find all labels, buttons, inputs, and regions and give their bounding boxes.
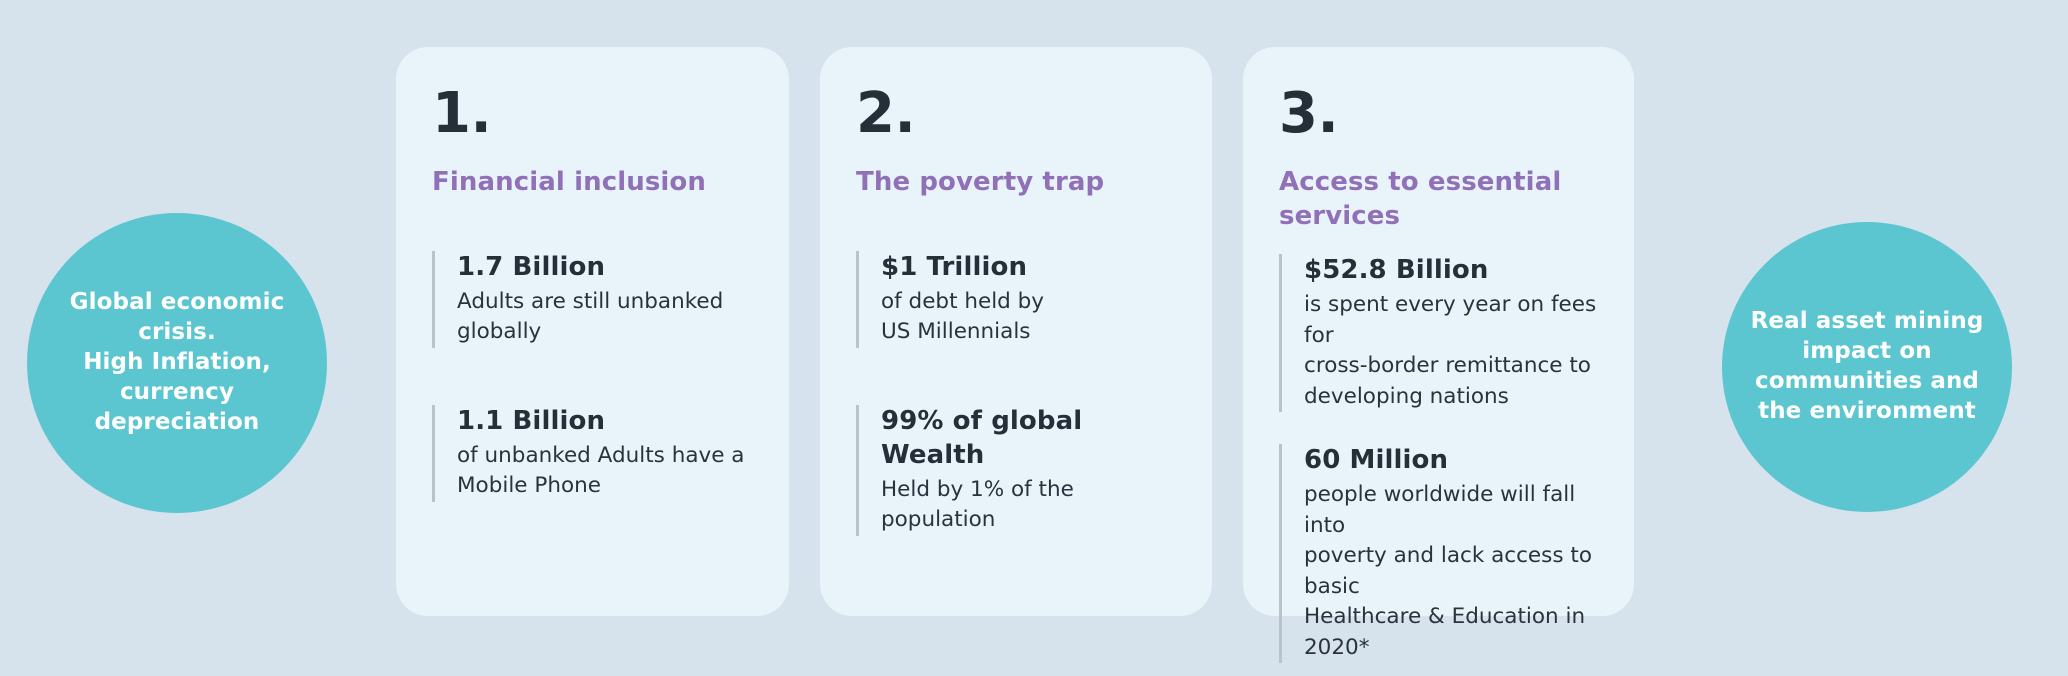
stat-value: 60 Million [1304, 444, 1598, 478]
card-number: 3. [1279, 85, 1598, 144]
stat-value: $1 Trillion [881, 251, 1176, 285]
stat-value: 1.1 Billion [457, 405, 753, 439]
stat-value: 99% of global Wealth [881, 405, 1176, 473]
stat-description: of debt held by US Millennials [881, 287, 1176, 348]
stats-list: 1.7 Billion Adults are still unbanked gl… [432, 251, 753, 502]
stat-description: of unbanked Adults have a Mobile Phone [457, 441, 753, 502]
stats-list: $1 Trillion of debt held by US Millennia… [856, 251, 1176, 535]
stat-item: $1 Trillion of debt held by US Millennia… [856, 251, 1176, 348]
card-financial-inclusion: 1. Financial inclusion 1.7 Billion Adult… [396, 47, 789, 616]
stat-description: is spent every year on fees for cross-bo… [1304, 290, 1598, 412]
left-circle-text: Global economic crisis. High Inflation, … [27, 288, 327, 437]
card-access-to-essential-services: 3. Access to essential services $52.8 Bi… [1243, 47, 1634, 616]
card-title: Access to essential services [1279, 165, 1598, 234]
stat-description: Adults are still unbanked globally [457, 287, 753, 348]
left-context-circle: Global economic crisis. High Inflation, … [27, 213, 327, 513]
cards-row: 1. Financial inclusion 1.7 Billion Adult… [396, 47, 1634, 616]
stat-item: 1.1 Billion of unbanked Adults have a Mo… [432, 405, 753, 502]
right-circle-text: Real asset mining impact on communities … [1722, 307, 2012, 427]
stat-item: $52.8 Billion is spent every year on fee… [1279, 254, 1598, 412]
card-number: 1. [432, 85, 753, 144]
infographic-stage: Global economic crisis. High Inflation, … [0, 0, 2068, 676]
card-title: The poverty trap [856, 165, 1176, 199]
card-title: Financial inclusion [432, 165, 753, 199]
stats-list: $52.8 Billion is spent every year on fee… [1279, 254, 1598, 663]
stat-description: people worldwide will fall into poverty … [1304, 480, 1598, 663]
stat-item: 60 Million people worldwide will fall in… [1279, 444, 1598, 663]
stat-value: 1.7 Billion [457, 251, 753, 285]
stat-item: 99% of global Wealth Held by 1% of the p… [856, 405, 1176, 536]
stat-item: 1.7 Billion Adults are still unbanked gl… [432, 251, 753, 348]
card-poverty-trap: 2. The poverty trap $1 Trillion of debt … [820, 47, 1212, 616]
card-number: 2. [856, 85, 1176, 144]
right-context-circle: Real asset mining impact on communities … [1722, 222, 2012, 512]
stat-description: Held by 1% of the population [881, 475, 1176, 536]
stat-value: $52.8 Billion [1304, 254, 1598, 288]
